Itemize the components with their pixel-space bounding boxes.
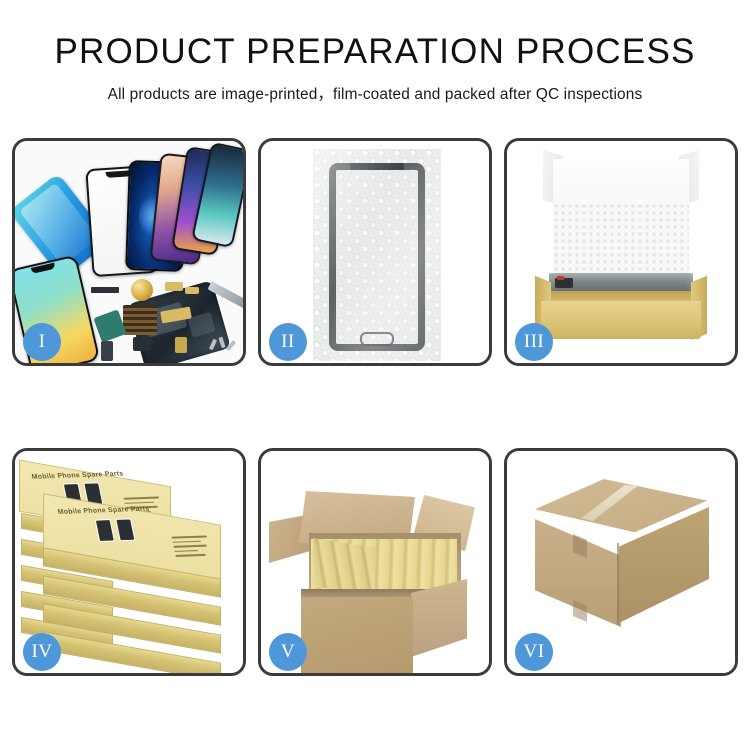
flex-cable-small-icon [185, 287, 199, 294]
step-badge-5: V [269, 633, 307, 671]
bubble-wrap-icon [313, 149, 441, 361]
step-panel-5: V [258, 448, 492, 676]
step-panel-2: II [258, 138, 492, 366]
carton-front-face-icon [301, 597, 413, 673]
vibration-motor-icon [131, 279, 153, 301]
screws-icon [211, 337, 241, 353]
battery-connector-icon [175, 337, 187, 353]
product-preparation-process-infographic: PRODUCT PREPARATION PROCESS All products… [0, 0, 750, 750]
box-front-icon [541, 301, 701, 339]
plastic-gloss-overlay [313, 149, 441, 361]
flex-cable-icon [165, 282, 183, 291]
connector-strip-icon [91, 287, 119, 293]
step-badge-1: I [23, 323, 61, 361]
speaker-module-icon [133, 337, 151, 351]
earpiece-icon [155, 339, 169, 353]
camera-module-icon [93, 309, 126, 342]
step-badge-2: II [269, 323, 307, 361]
step-badge-4: IV [23, 633, 61, 671]
step-panel-1: I [12, 138, 246, 366]
step-badge-6: VI [515, 633, 553, 671]
step-panel-4: Mobile Phone Spare Parts Mobile Phone Sp… [12, 448, 246, 676]
box-spec-lines [172, 535, 212, 559]
step-panel-6: VI [504, 448, 738, 676]
foam-padding-icon [553, 203, 689, 275]
page-subtitle: All products are image-printed，film-coat… [0, 82, 750, 104]
box-product-thumbnails [95, 519, 136, 543]
step-badge-3: III [515, 323, 553, 361]
page-title: PRODUCT PREPARATION PROCESS [0, 34, 750, 71]
chip-grid-icon [123, 305, 157, 335]
packed-retail-boxes-left-icon [313, 538, 375, 596]
process-steps-grid: I II II [12, 138, 738, 676]
header: PRODUCT PREPARATION PROCESS All products… [0, 0, 750, 104]
carton-vertical-edge-icon [617, 543, 619, 625]
step-panel-3: III [504, 138, 738, 366]
sim-tray-icon [101, 341, 113, 361]
